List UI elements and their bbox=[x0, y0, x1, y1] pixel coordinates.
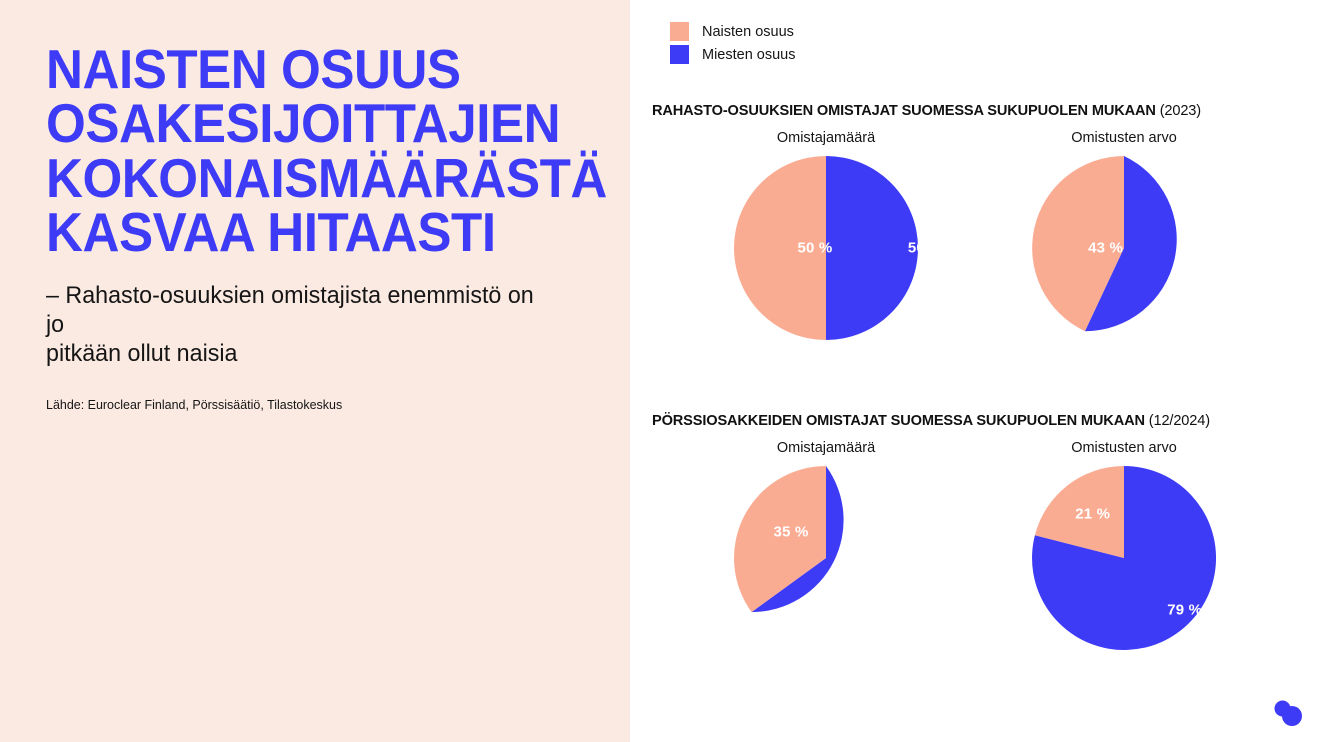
pie-svg-funds-owners bbox=[734, 156, 918, 340]
left-title-panel: NAISTEN OSUUS OSAKESIJOITTAJIEN KOKONAIS… bbox=[0, 0, 630, 742]
two-circles-logo-icon bbox=[1268, 697, 1306, 727]
legend-item-female: Naisten osuus bbox=[670, 20, 796, 43]
legend-label-male: Miesten osuus bbox=[702, 47, 796, 63]
pie-slice-male bbox=[826, 156, 918, 340]
pie-cell-shares-value: Omistusten arvo 21 % 79 % bbox=[994, 440, 1254, 650]
pie-caption-funds-value: Omistusten arvo bbox=[994, 130, 1254, 146]
chart-title-shares: PÖRSSIOSAKKEIDEN OMISTAJAT SUOMESSA SUKU… bbox=[652, 413, 1323, 429]
pie-caption-shares-value: Omistusten arvo bbox=[994, 440, 1254, 456]
pie-svg-shares-owners bbox=[734, 466, 918, 650]
legend-item-male: Miesten osuus bbox=[670, 43, 796, 66]
pie-cell-funds-value: Omistusten arvo 43 % 57 % bbox=[994, 130, 1254, 340]
logo-circle-large bbox=[1282, 706, 1302, 726]
chart-title-shares-text: PÖRSSIOSAKKEIDEN OMISTAJAT SUOMESSA SUKU… bbox=[652, 413, 1145, 429]
page-subtitle: – Rahasto-osuuksien omistajista enemmist… bbox=[46, 282, 557, 369]
pie-cell-shares-owners: Omistajamäärä 35 % 65 % bbox=[696, 440, 956, 650]
chart-block-shares: PÖRSSIOSAKKEIDEN OMISTAJAT SUOMESSA SUKU… bbox=[630, 413, 1323, 680]
pie-caption-funds-owners: Omistajamäärä bbox=[696, 130, 956, 146]
legend: Naisten osuus Miesten osuus bbox=[670, 20, 796, 66]
legend-swatch-male bbox=[670, 45, 689, 64]
pie-caption-shares-owners: Omistajamäärä bbox=[696, 440, 956, 456]
pie-cell-funds-owners: Omistajamäärä 50 % 50 % bbox=[696, 130, 956, 340]
pies-row-funds: Omistajamäärä 50 % 50 % Omistusten arvo bbox=[630, 130, 1323, 370]
pies-row-shares: Omistajamäärä 35 % 65 % Omistusten arvo bbox=[630, 440, 1323, 680]
pie-chart-funds-value: 43 % 57 % bbox=[1032, 156, 1216, 340]
pie-slice-female bbox=[734, 156, 826, 340]
chart-title-funds-text: RAHASTO-OSUUKSIEN OMISTAJAT SUOMESSA SUK… bbox=[652, 103, 1156, 119]
pie-svg-funds-value bbox=[1032, 156, 1216, 340]
chart-block-funds: RAHASTO-OSUUKSIEN OMISTAJAT SUOMESSA SUK… bbox=[630, 103, 1323, 370]
pie-slice-female bbox=[734, 466, 826, 612]
chart-title-funds-period: (2023) bbox=[1160, 103, 1201, 119]
chart-title-funds: RAHASTO-OSUUKSIEN OMISTAJAT SUOMESSA SUK… bbox=[652, 103, 1323, 119]
charts-panel: Naisten osuus Miesten osuus RAHASTO-OSUU… bbox=[630, 0, 1323, 742]
legend-swatch-female bbox=[670, 22, 689, 41]
logo-svg bbox=[1268, 697, 1306, 727]
pie-chart-shares-owners: 35 % 65 % bbox=[734, 466, 918, 650]
chart-title-shares-period: (12/2024) bbox=[1149, 413, 1210, 429]
pie-chart-shares-value: 21 % 79 % bbox=[1032, 466, 1216, 650]
legend-label-female: Naisten osuus bbox=[702, 24, 794, 40]
source-note: Lähde: Euroclear Finland, Pörssisäätiö, … bbox=[46, 397, 562, 414]
pie-chart-funds-owners: 50 % 50 % bbox=[734, 156, 918, 340]
page-title: NAISTEN OSUUS OSAKESIJOITTAJIEN KOKONAIS… bbox=[46, 42, 546, 260]
infographic-page: NAISTEN OSUUS OSAKESIJOITTAJIEN KOKONAIS… bbox=[0, 0, 1323, 742]
pie-svg-shares-value bbox=[1032, 466, 1216, 650]
